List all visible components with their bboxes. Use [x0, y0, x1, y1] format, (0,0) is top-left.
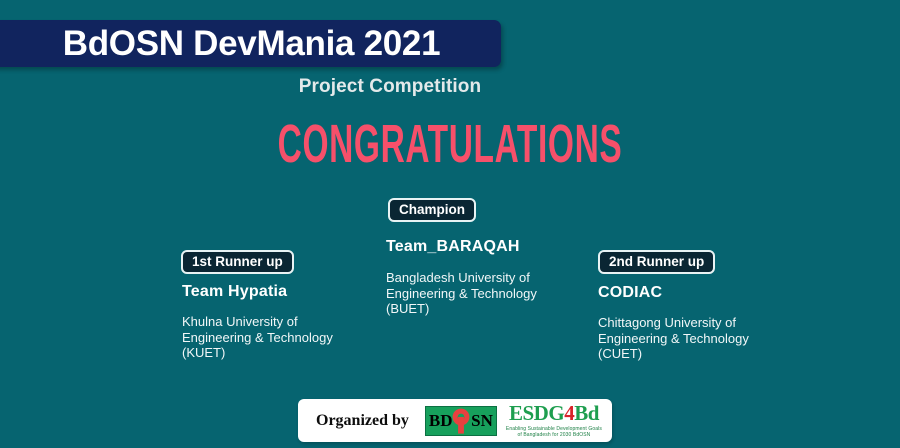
esdg4bd-tagline: Enabling Sustainable Development Goals o… [506, 426, 602, 439]
bdosn-logo-right-text: SN [471, 412, 493, 429]
organizer-footer-bar: Organized by BD SN ESDG4Bd Enabling Sust… [298, 399, 612, 442]
status-badge-champion: Champion [388, 198, 476, 222]
winner-second-runner-up: CODIAC Chittagong University of Engineer… [598, 284, 788, 362]
winner-first-runner-up: Team Hypatia Khulna University of Engine… [182, 283, 362, 361]
page-subtitle: Project Competition [0, 76, 780, 98]
status-badge-first-runner-up: 1st Runner up [181, 250, 294, 274]
esdg4bd-part-2: 4 [564, 401, 574, 425]
first-runner-up-university: Khulna University of Engineering & Techn… [182, 314, 362, 361]
open-source-keyhole-icon [450, 408, 472, 434]
second-runner-up-team-name: CODIAC [598, 284, 788, 302]
esdg4bd-logo-wordmark: ESDG4Bd [509, 403, 599, 424]
congratulations-slide: BdOSN DevMania 2021 Project Competition … [0, 0, 900, 448]
champion-team-name: Team_BARAQAH [386, 238, 576, 256]
second-runner-up-university: Chittagong University of Engineering & T… [598, 315, 788, 362]
winner-champion: Team_BARAQAH Bangladesh University of En… [386, 238, 576, 317]
page-title: BdOSN DevMania 2021 [0, 20, 501, 67]
congratulations-headline: CONGRATULATIONS [171, 116, 729, 173]
bdosn-logo-left-text: BD [429, 412, 453, 429]
bdosn-logo: BD SN [425, 406, 497, 436]
esdg4bd-logo: ESDG4Bd Enabling Sustainable Development… [506, 403, 602, 439]
status-badge-second-runner-up: 2nd Runner up [598, 250, 715, 274]
esdg4bd-part-3: Bd [574, 401, 599, 425]
esdg4bd-tagline-line-2: of Bangladesh for 2030 BdOSN [506, 432, 602, 438]
first-runner-up-team-name: Team Hypatia [182, 283, 362, 301]
esdg4bd-part-1: ESDG [509, 401, 564, 425]
champion-university: Bangladesh University of Engineering & T… [386, 270, 576, 317]
title-banner: BdOSN DevMania 2021 [0, 20, 501, 67]
organized-by-label: Organized by [316, 412, 409, 430]
